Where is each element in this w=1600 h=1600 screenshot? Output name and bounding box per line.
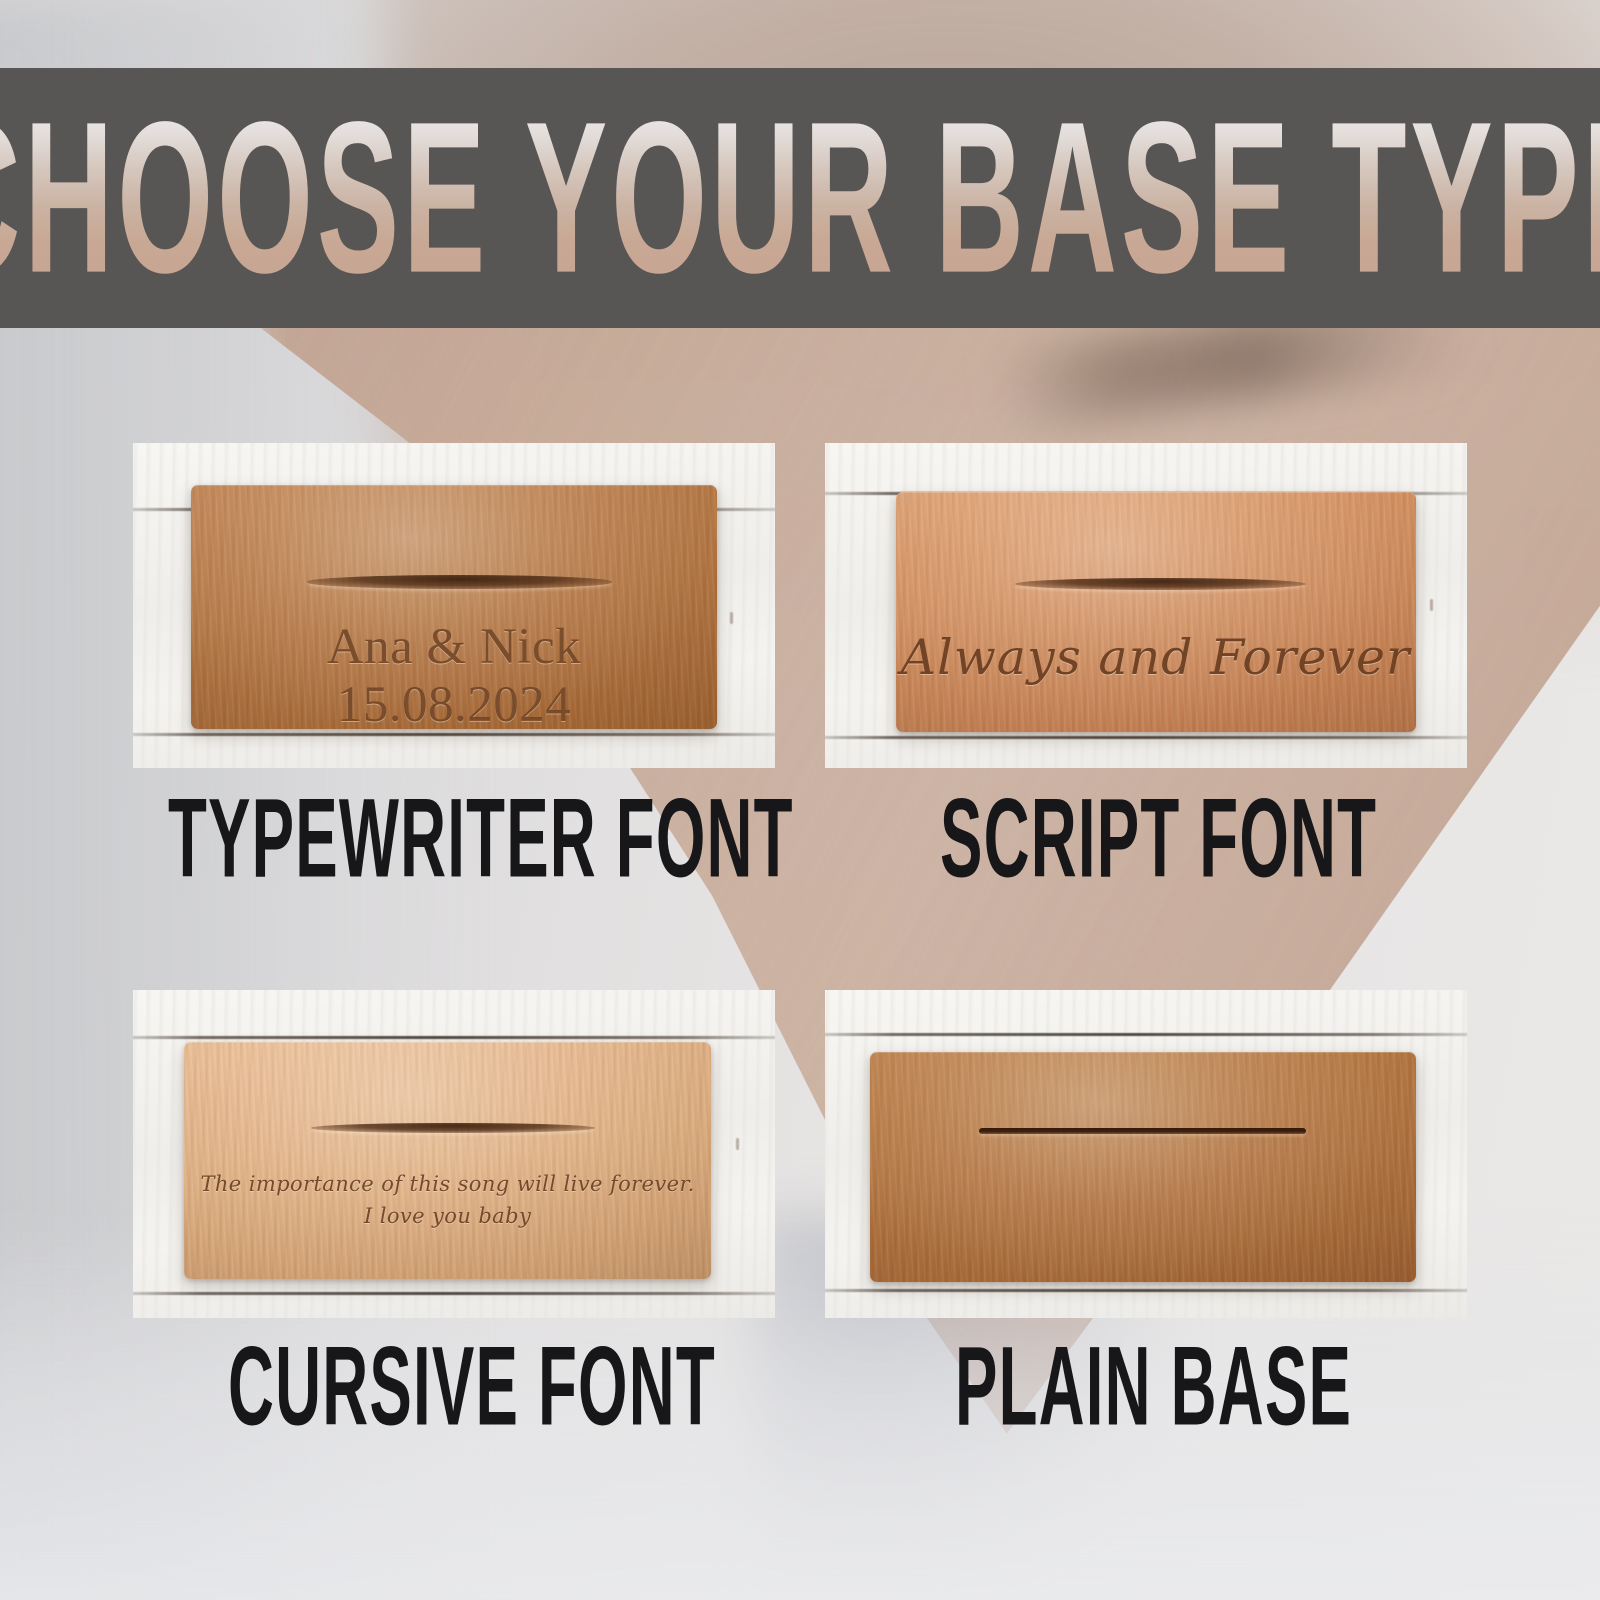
wood-sheen — [191, 485, 717, 729]
wooden-base-block: Ana & Nick 15.08.2024 — [191, 485, 717, 729]
nail-speck — [736, 1138, 739, 1150]
wooden-base-block: The importance of this song will live fo… — [184, 1042, 710, 1278]
plank-seam — [825, 1289, 1467, 1292]
option-label-typewriter: TYPEWRITER FONT — [168, 782, 794, 894]
wood-sheen — [870, 1052, 1416, 1282]
wooden-base-block — [870, 1052, 1416, 1282]
plank-seam — [825, 1033, 1467, 1036]
option-card-plain[interactable] — [825, 990, 1467, 1318]
option-label-plain: PLAIN BASE — [955, 1330, 1352, 1442]
header-banner: CHOOSE YOUR BASE TYPE — [0, 68, 1600, 328]
option-card-typewriter[interactable]: Ana & Nick 15.08.2024 — [133, 443, 775, 768]
plank-seam — [133, 1036, 775, 1039]
plank-seam — [825, 736, 1467, 739]
option-card-cursive[interactable]: The importance of this song will live fo… — [133, 990, 775, 1318]
nail-speck — [730, 612, 733, 624]
card-slot — [307, 575, 612, 588]
card-slot — [979, 1128, 1306, 1134]
option-label-cursive: CURSIVE FONT — [228, 1330, 716, 1442]
wood-sheen — [896, 492, 1416, 733]
option-label-script: SCRIPT FONT — [940, 782, 1377, 894]
product-option-graphic: CHOOSE YOUR BASE TYPE Ana & Nick 15.08.2… — [0, 0, 1600, 1600]
plank-seam — [133, 733, 775, 736]
nail-speck — [1430, 599, 1433, 611]
page-title: CHOOSE YOUR BASE TYPE — [0, 110, 1600, 287]
plank-seam — [133, 1292, 775, 1295]
option-card-script[interactable]: Always and Forever — [825, 443, 1467, 768]
wooden-base-block: Always and Forever — [896, 492, 1416, 733]
wood-sheen — [184, 1042, 710, 1278]
